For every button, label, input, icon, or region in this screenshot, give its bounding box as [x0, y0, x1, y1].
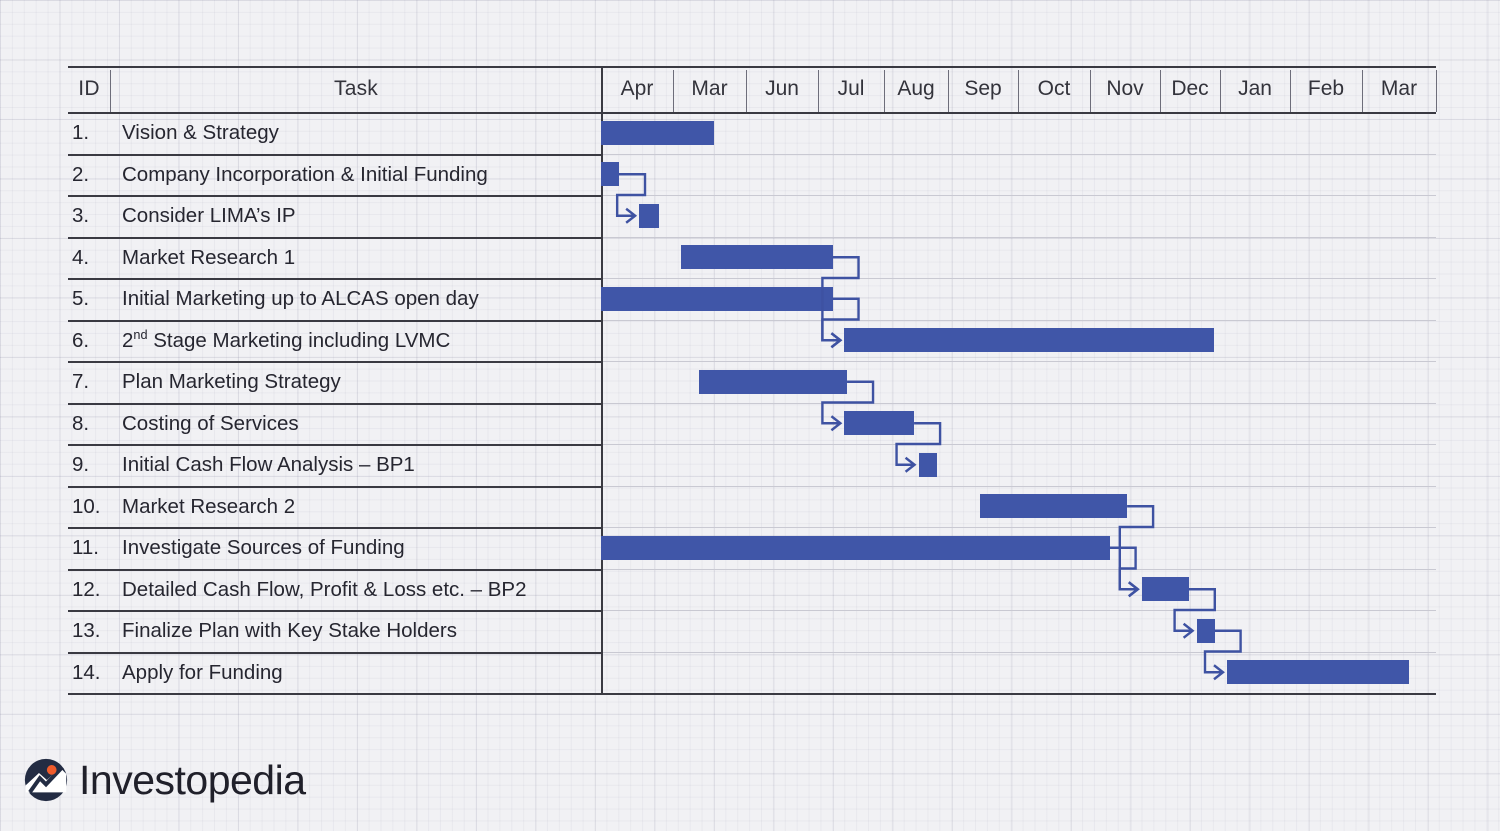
row-task-13: Finalize Plan with Key Stake Holders [122, 610, 602, 652]
timeline-rule-9 [601, 486, 1436, 487]
row-task-2: Company Incorporation & Initial Funding [122, 154, 602, 196]
dependency-arrowhead-8-9 [906, 458, 915, 472]
row-task-5: Initial Marketing up to ALCAS open day [122, 278, 602, 320]
dependency-arrowhead-10-12 [1129, 582, 1138, 596]
rule-top [68, 66, 1436, 68]
row-id-3: 3. [72, 195, 118, 237]
dependency-arrowhead-4-6 [831, 333, 840, 347]
vrule-month-11 [1362, 70, 1363, 112]
row-id-6: 6. [72, 320, 118, 362]
row-id-12: 12. [72, 569, 118, 611]
gantt-bar-13[interactable] [1197, 619, 1215, 643]
dependency-arrowhead-2-3 [626, 209, 635, 223]
gantt-bar-7[interactable] [699, 370, 847, 394]
row-task-11: Investigate Sources of Funding [122, 527, 602, 569]
row-task-8: Costing of Services [122, 403, 602, 445]
brand-logo: Investopedia [24, 758, 306, 802]
gantt-bar-1[interactable] [601, 121, 714, 145]
rule-bottom [68, 693, 1436, 695]
month-header-9: Jan [1220, 66, 1290, 112]
timeline-rule-5 [601, 320, 1436, 321]
month-header-3: Jul [818, 66, 884, 112]
row-task-12: Detailed Cash Flow, Profit & Loss etc. –… [122, 569, 602, 611]
timeline-rule-7 [601, 403, 1436, 404]
column-header-task: Task [112, 66, 600, 112]
gantt-bar-14[interactable] [1227, 660, 1409, 684]
row-id-8: 8. [72, 403, 118, 445]
timeline-rule-4 [601, 278, 1436, 279]
row-task-6: 2nd Stage Marketing including LVMC [122, 320, 602, 362]
month-header-4: Aug [884, 66, 948, 112]
month-header-1: Mar [673, 66, 746, 112]
investopedia-circle-logo-icon [24, 758, 68, 802]
month-header-5: Sep [948, 66, 1018, 112]
gantt-bar-2[interactable] [601, 162, 619, 186]
dependency-arrowhead-5-6 [831, 333, 840, 347]
month-header-2: Jun [746, 66, 818, 112]
row-task-10: Market Research 2 [122, 486, 602, 528]
month-header-8: Dec [1160, 66, 1220, 112]
row-task-7: Plan Marketing Strategy [122, 361, 602, 403]
timeline-rule-3 [601, 237, 1436, 238]
vrule-month-5 [948, 70, 949, 112]
row-task-3: Consider LIMA’s IP [122, 195, 602, 237]
dependency-arrowhead-7-8 [831, 416, 840, 430]
gantt-bar-5[interactable] [601, 287, 833, 311]
vrule-month-12 [1436, 70, 1437, 112]
row-id-5: 5. [72, 278, 118, 320]
gantt-bar-6[interactable] [844, 328, 1214, 352]
row-task-14: Apply for Funding [122, 652, 602, 694]
brand-name: Investopedia [79, 760, 306, 801]
row-id-9: 9. [72, 444, 118, 486]
row-task-1: Vision & Strategy [122, 112, 602, 154]
timeline-rule-12 [601, 610, 1436, 611]
row-task-9: Initial Cash Flow Analysis – BP1 [122, 444, 602, 486]
month-header-0: Apr [601, 66, 673, 112]
month-header-6: Oct [1018, 66, 1090, 112]
gantt-bar-9[interactable] [919, 453, 938, 477]
gantt-bar-3[interactable] [639, 204, 659, 228]
month-header-11: Mar [1362, 66, 1436, 112]
gantt-bar-12[interactable] [1142, 577, 1189, 601]
timeline-rule-1 [601, 154, 1436, 155]
vrule-month-10 [1290, 70, 1291, 112]
row-id-11: 11. [72, 527, 118, 569]
column-header-id: ID [68, 66, 110, 112]
row-id-14: 14. [72, 652, 118, 694]
timeline-rule-13 [601, 652, 1436, 653]
gantt-bar-11[interactable] [601, 536, 1110, 560]
vrule-month-3 [818, 70, 819, 112]
dependency-arrowhead-13-14 [1214, 665, 1223, 679]
row-id-10: 10. [72, 486, 118, 528]
vrule-month-9 [1220, 70, 1221, 112]
vrule-month-2 [746, 70, 747, 112]
timeline-rule-6 [601, 361, 1436, 362]
row-task-4: Market Research 1 [122, 237, 602, 279]
gantt-bar-4[interactable] [681, 245, 832, 269]
row-id-7: 7. [72, 361, 118, 403]
month-header-10: Feb [1290, 66, 1362, 112]
timeline-rule-10 [601, 527, 1436, 528]
gantt-bar-10[interactable] [980, 494, 1128, 518]
vrule-month-6 [1018, 70, 1019, 112]
gantt-bar-8[interactable] [844, 411, 914, 435]
dependency-arrowhead-11-12 [1129, 582, 1138, 596]
row-id-13: 13. [72, 610, 118, 652]
month-header-7: Nov [1090, 66, 1160, 112]
row-id-2: 2. [72, 154, 118, 196]
vrule-month-7 [1090, 70, 1091, 112]
timeline-rule-8 [601, 444, 1436, 445]
gantt-table: ID Task AprMarJunJulAugSepOctNovDecJanFe… [68, 66, 1436, 694]
vrule-month-4 [884, 70, 885, 112]
timeline-rule-2 [601, 195, 1436, 196]
vrule-id-task [110, 70, 111, 112]
dependency-arrowhead-12-13 [1184, 624, 1193, 638]
row-id-1: 1. [72, 112, 118, 154]
timeline-rule-11 [601, 569, 1436, 570]
gantt-chart: ID Task AprMarJunJulAugSepOctNovDecJanFe… [0, 0, 1500, 831]
vrule-month-1 [673, 70, 674, 112]
row-id-4: 4. [72, 237, 118, 279]
vrule-month-8 [1160, 70, 1161, 112]
